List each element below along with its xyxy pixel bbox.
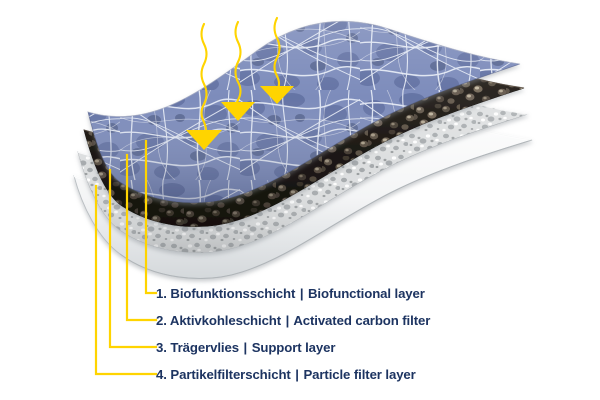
- layer-4-name-en: Particle filter layer: [303, 367, 415, 382]
- layer-3-name-de: Trägervlies: [170, 340, 239, 355]
- layer-2-name-en: Activated carbon filter: [293, 313, 430, 328]
- layer-1-name-de: Biofunktionsschicht: [170, 286, 295, 301]
- layer-2-number: 2.: [156, 313, 167, 328]
- layer-3-separator: |: [243, 340, 249, 355]
- layer-2-name-de: Aktivkohleschicht: [170, 313, 281, 328]
- layer-label-2[interactable]: 2. Aktivkohleschicht | Activated carbon …: [156, 313, 430, 328]
- layer-3-name-en: Support layer: [252, 340, 336, 355]
- layer-4-separator: |: [294, 367, 300, 382]
- layer-4-number: 4.: [156, 367, 167, 382]
- layer-4-name-de: Partikelfilterschicht: [170, 367, 290, 382]
- layer-1-number: 1.: [156, 286, 167, 301]
- diagram-canvas: 1. Biofunktionsschicht | Biofunctional l…: [0, 0, 600, 400]
- layer-1-separator: |: [299, 286, 305, 301]
- layer-3-number: 3.: [156, 340, 167, 355]
- layer-label-1[interactable]: 1. Biofunktionsschicht | Biofunctional l…: [156, 286, 425, 301]
- layer-1-name-en: Biofunctional layer: [308, 286, 425, 301]
- layer-2-separator: |: [285, 313, 291, 328]
- layer-label-3[interactable]: 3. Trägervlies | Support layer: [156, 340, 335, 355]
- layer-label-4[interactable]: 4. Partikelfilterschicht | Particle filt…: [156, 367, 416, 382]
